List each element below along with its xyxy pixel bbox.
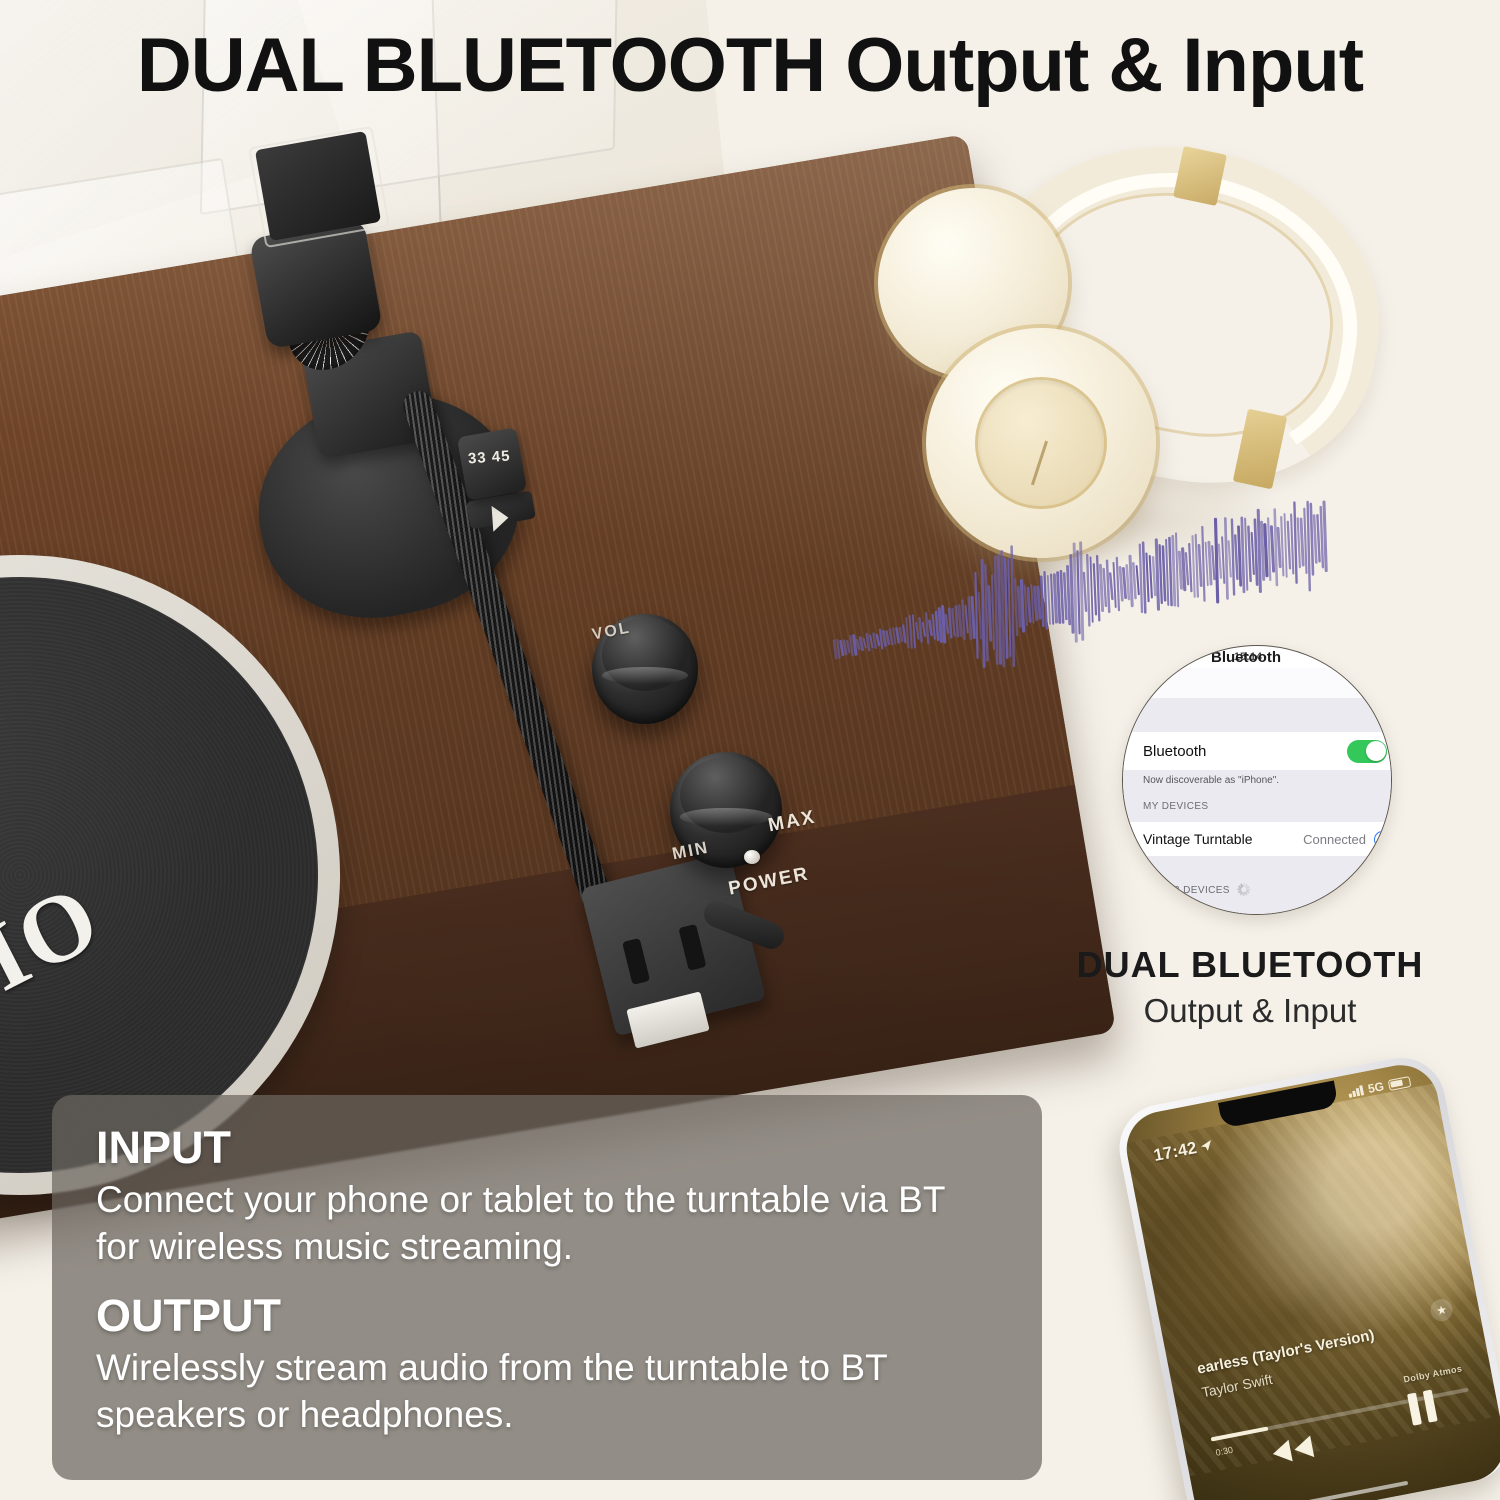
discoverable-note: Now discoverable as "iPhone". [1122, 770, 1392, 798]
bluetooth-headphones [860, 140, 1400, 560]
page-title: DUAL BLUETOOTH Output & Input [0, 28, 1500, 104]
output-block: OUTPUT Wirelessly stream audio from the … [96, 1293, 998, 1439]
bluetooth-toggle-switch[interactable] [1347, 740, 1387, 763]
bluetooth-toggle-row[interactable]: Bluetooth [1122, 732, 1392, 770]
tonearm-top-block-frame [248, 126, 390, 248]
input-heading: INPUT [96, 1125, 998, 1170]
device-status: Connected [1303, 833, 1366, 846]
other-devices-header: OTHER DEVICES [1143, 886, 1230, 896]
output-body: Wirelessly stream audio from the turntab… [96, 1344, 998, 1439]
info-icon[interactable]: i [1374, 831, 1391, 848]
bluetooth-caption: DUAL BLUETOOTH Output & Input [1020, 945, 1480, 1030]
section-gap [1122, 698, 1392, 732]
bluetooth-nav-bar [1122, 668, 1392, 698]
input-block: INPUT Connect your phone or tablet to th… [96, 1125, 998, 1271]
rewind-icon[interactable] [1262, 1430, 1323, 1470]
speed-selector-label: 33 45 [468, 449, 511, 467]
caption-line-1: DUAL BLUETOOTH [1020, 945, 1480, 985]
location-icon [1199, 1138, 1214, 1152]
loading-spinner-icon [1238, 883, 1251, 896]
toggle-knob [1366, 741, 1386, 761]
pause-button[interactable] [1407, 1390, 1438, 1426]
device-row[interactable]: Vintage Turntable Connected i [1122, 822, 1392, 856]
device-row-right: Connected i [1303, 831, 1391, 848]
caption-line-2: Output & Input [1020, 991, 1480, 1031]
bluetooth-settings-inset: 15:14 gs Bluetooth Bluetooth Now discove… [1122, 645, 1392, 915]
phone-screen[interactable]: 17:42 5G ★ earless (Taylor's Version) Ta… [1120, 1059, 1500, 1500]
input-body: Connect your phone or tablet to the turn… [96, 1176, 998, 1271]
feature-description-panel: INPUT Connect your phone or tablet to th… [52, 1095, 1042, 1480]
network-label: 5G [1367, 1080, 1385, 1095]
platter-brand-text: AUDIO [0, 867, 115, 1105]
power-indicator-led [744, 850, 760, 864]
product-infographic: AUDIO 33 45 VOL MIN MAX POWER 15:14 [0, 0, 1500, 1500]
bluetooth-page-title: Bluetooth [1122, 650, 1391, 665]
device-name: Vintage Turntable [1143, 832, 1253, 846]
other-devices-section: OTHER DEVICES [1122, 856, 1392, 915]
bluetooth-settings-screen: 15:14 gs Bluetooth Bluetooth Now discove… [1122, 646, 1392, 915]
bluetooth-toggle-label: Bluetooth [1143, 744, 1206, 759]
output-heading: OUTPUT [96, 1293, 998, 1338]
power-knob-top [680, 757, 772, 834]
my-devices-header: MY DEVICES [1122, 798, 1392, 822]
signal-bars-icon [1348, 1085, 1365, 1098]
